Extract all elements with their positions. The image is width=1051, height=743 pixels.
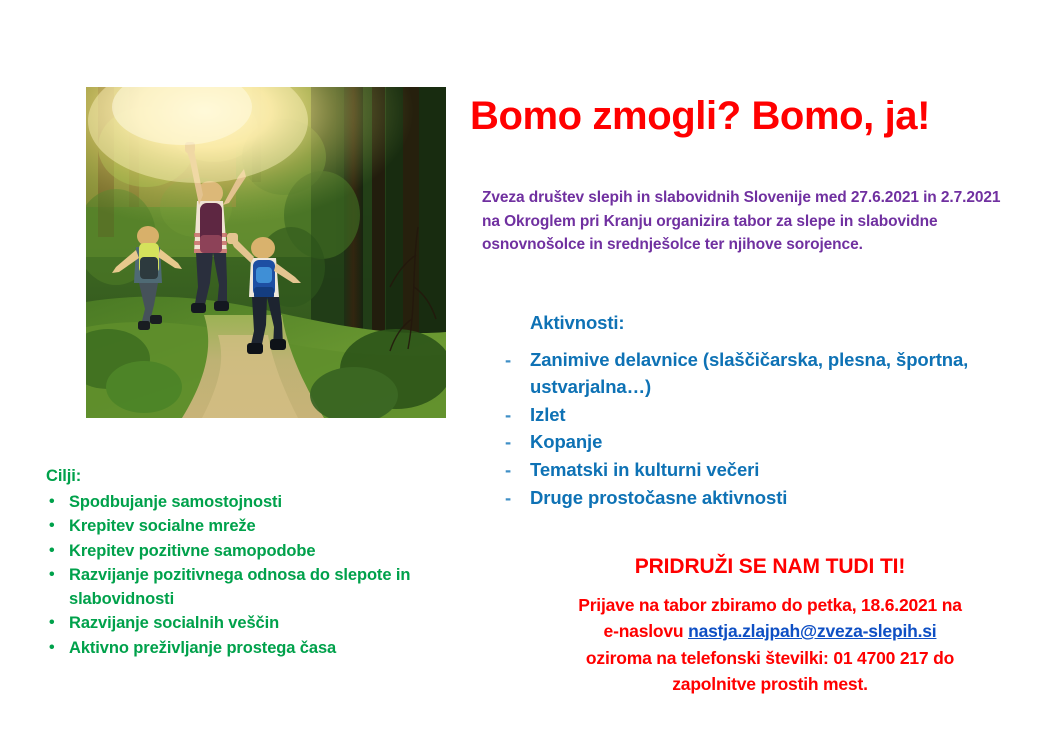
- contact-email-link[interactable]: nastja.zlajpah@zveza-slepih.si: [688, 621, 936, 641]
- goal-label: Spodbujanje samostojnosti: [69, 493, 282, 511]
- cta-line-4: zapolnitve prostih mest.: [672, 674, 868, 694]
- list-item: - Zanimive delavnice (slaščičarska, ples…: [503, 347, 1003, 401]
- list-item: • Aktivno preživljanje prostega časa: [46, 637, 516, 660]
- round-bullet-icon: •: [49, 515, 55, 538]
- flyer-page: Bomo zmogli? Bomo, ja! Zveza društev sle…: [0, 0, 1051, 743]
- goal-label: Krepitev pozitivne samopodobe: [69, 542, 315, 560]
- activities-heading: Aktivnosti:: [530, 312, 625, 334]
- activities-list: - Zanimive delavnice (slaščičarska, ples…: [503, 347, 1003, 513]
- goal-label: Razvijanje socialnih veščin: [69, 614, 279, 632]
- round-bullet-icon: •: [49, 612, 55, 635]
- dash-bullet-icon: -: [505, 402, 511, 429]
- round-bullet-icon: •: [49, 491, 55, 514]
- goals-list: • Spodbujanje samostojnosti • Krepitev s…: [46, 491, 516, 661]
- list-item: • Razvijanje pozitivnega odnosa do slepo…: [46, 564, 516, 611]
- list-item: • Spodbujanje samostojnosti: [46, 491, 516, 514]
- activity-label: Izlet: [530, 404, 565, 425]
- cta-heading: PRIDRUŽI SE NAM TUDI TI!: [520, 555, 1020, 579]
- list-item: • Krepitev socialne mreže: [46, 515, 516, 538]
- list-item: - Tematski in kulturni večeri: [503, 457, 1003, 484]
- page-title: Bomo zmogli? Bomo, ja!: [470, 95, 1030, 137]
- cta-line-2-prefix: e-naslovu: [604, 621, 689, 641]
- activity-label: Tematski in kulturni večeri: [530, 459, 759, 480]
- dash-bullet-icon: -: [505, 429, 511, 456]
- intro-paragraph: Zveza društev slepih in slabovidnih Slov…: [482, 186, 1002, 257]
- round-bullet-icon: •: [49, 564, 55, 587]
- forest-jumping-children-image: [86, 87, 446, 418]
- dash-bullet-icon: -: [505, 457, 511, 484]
- goal-label: Razvijanje pozitivnega odnosa do slepote…: [69, 566, 410, 607]
- goal-label: Aktivno preživljanje prostega časa: [69, 639, 336, 657]
- dash-bullet-icon: -: [505, 347, 511, 374]
- cta-line-1: Prijave na tabor zbiramo do petka, 18.6.…: [578, 595, 962, 615]
- goal-label: Krepitev socialne mreže: [69, 517, 256, 535]
- activity-label: Zanimive delavnice (slaščičarska, plesna…: [530, 349, 968, 397]
- round-bullet-icon: •: [49, 637, 55, 660]
- list-item: • Razvijanje socialnih veščin: [46, 612, 516, 635]
- list-item: • Krepitev pozitivne samopodobe: [46, 540, 516, 563]
- hero-photo: [86, 87, 446, 418]
- list-item: - Izlet: [503, 402, 1003, 429]
- cta-body: Prijave na tabor zbiramo do petka, 18.6.…: [520, 592, 1020, 697]
- list-item: - Kopanje: [503, 429, 1003, 456]
- goals-heading: Cilji:: [46, 467, 81, 486]
- cta-line-3: oziroma na telefonski številki: 01 4700 …: [586, 648, 954, 668]
- list-item: - Druge prostočasne aktivnosti: [503, 485, 1003, 512]
- round-bullet-icon: •: [49, 540, 55, 563]
- activity-label: Kopanje: [530, 431, 602, 452]
- activity-label: Druge prostočasne aktivnosti: [530, 487, 787, 508]
